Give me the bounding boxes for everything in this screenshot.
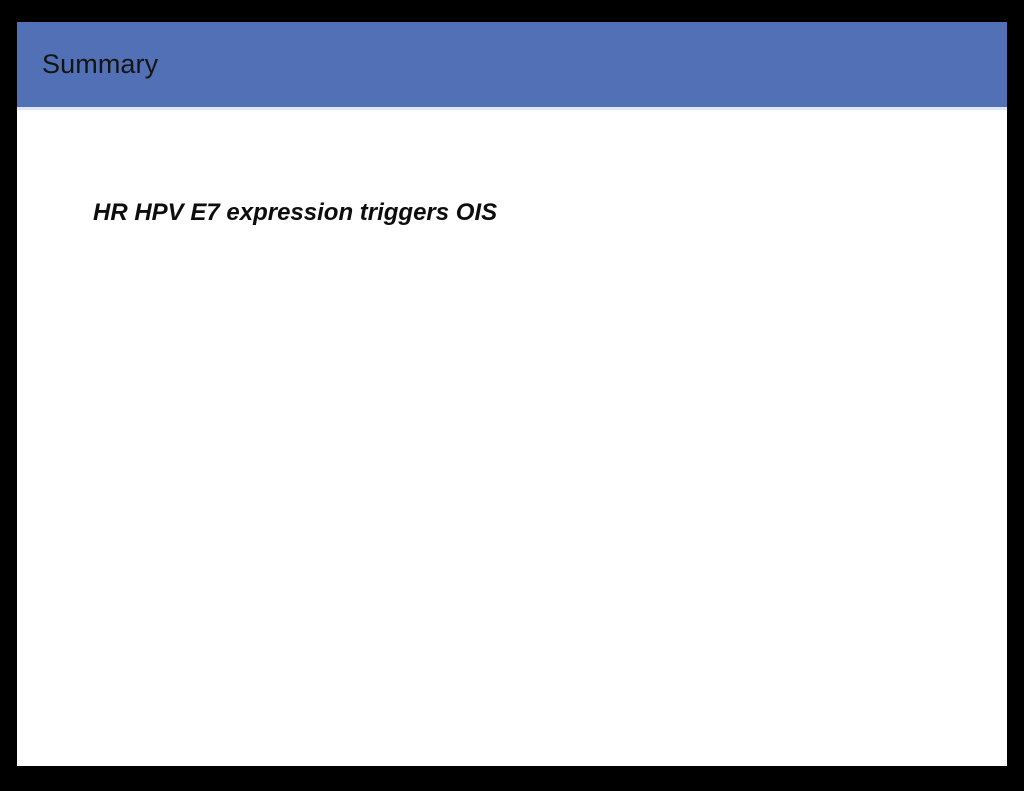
slide-title-band [17, 22, 1007, 107]
slide-body: HR HPV E7 expression triggers OIS [17, 110, 1007, 766]
page-title: Summary [42, 48, 158, 80]
slide-outer-frame: Summary HR HPV E7 expression triggers OI… [0, 0, 1024, 791]
slide-canvas: Summary HR HPV E7 expression triggers OI… [17, 22, 1007, 766]
body-line-1: HR HPV E7 expression triggers OIS [93, 198, 497, 228]
